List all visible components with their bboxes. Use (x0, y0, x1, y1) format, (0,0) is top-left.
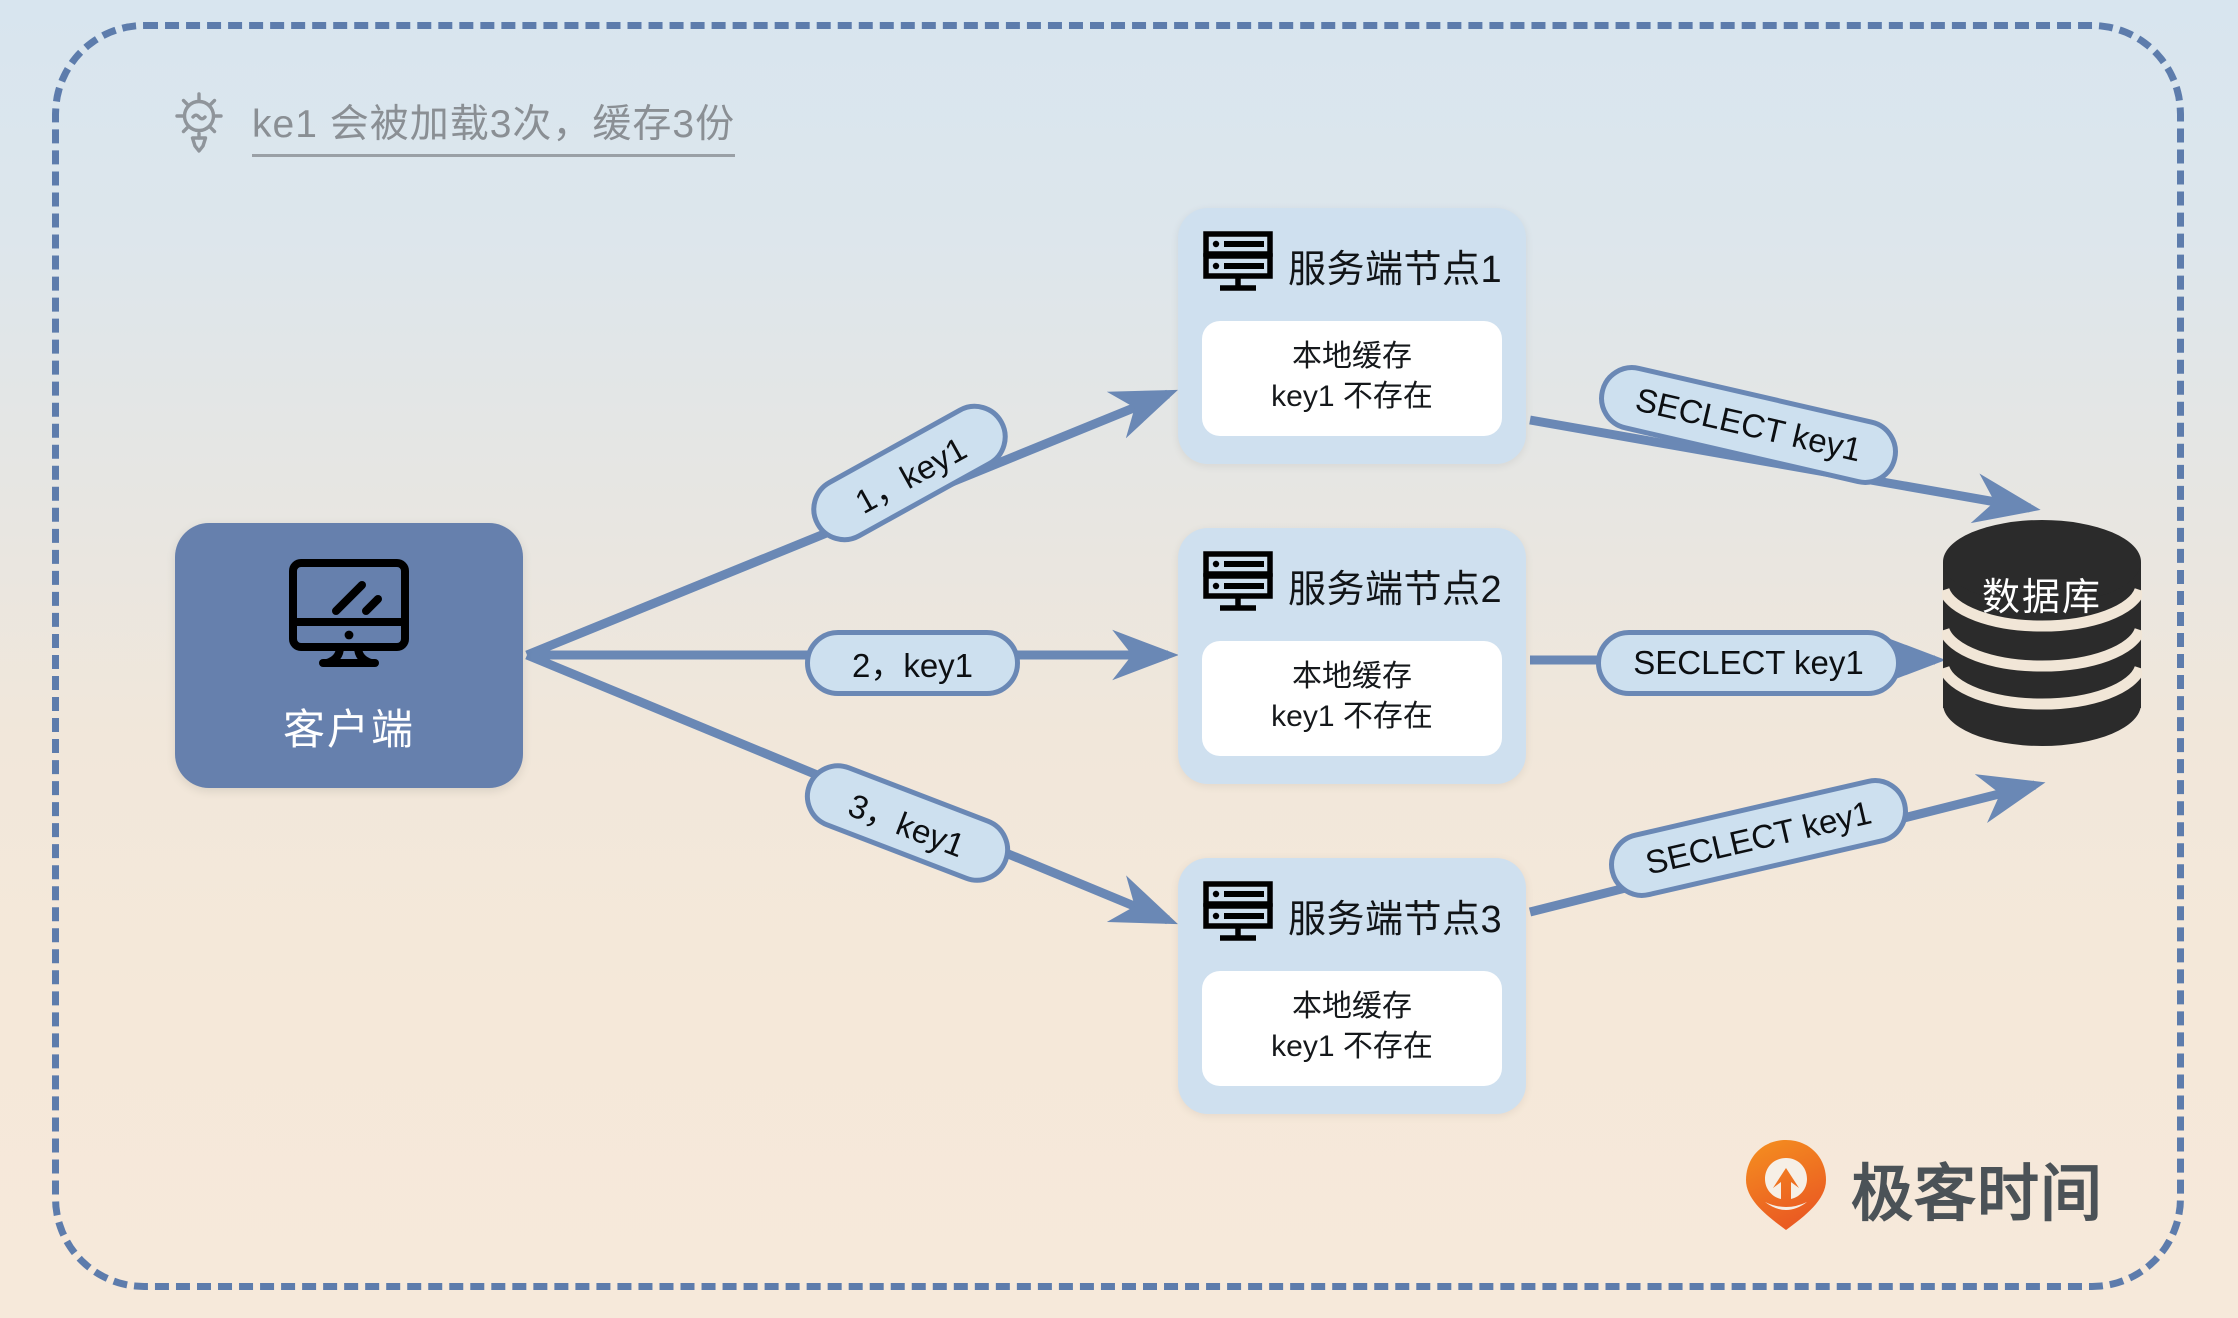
server-node-3[interactable]: 服务端节点3 本地缓存 key1 不存在 (1178, 858, 1526, 1114)
local-cache-box: 本地缓存 key1 不存在 (1202, 971, 1502, 1086)
edge-label-query-2: SECLECT key1 (1596, 630, 1901, 696)
hint-text: ke1 会被加载3次，缓存3份 (252, 93, 735, 157)
edge-label-request-3: 3，key1 (795, 754, 1019, 893)
server-title: 服务端节点3 (1288, 888, 1502, 943)
database-cylinder-icon (1942, 518, 2142, 788)
geektime-pin-icon (1743, 1138, 1829, 1237)
edge-label-request-2: 2，key1 (805, 630, 1020, 696)
cache-title: 本地缓存 (1210, 987, 1494, 1027)
edge-label-query-1: SECLECT key1 (1592, 359, 1904, 492)
geektime-logo: 极客时间 (1743, 1138, 2103, 1237)
server-title: 服务端节点2 (1288, 558, 1502, 613)
server-icon (1202, 230, 1274, 301)
edge-label-query-3: SECLECT key1 (1602, 772, 1914, 905)
cache-status: key1 不存在 (1210, 377, 1494, 417)
geektime-logo-text: 极客时间 (1851, 1143, 2103, 1233)
server-node-1[interactable]: 服务端节点1 本地缓存 key1 不存在 (1178, 208, 1526, 464)
cache-status: key1 不存在 (1210, 697, 1494, 737)
server-header: 服务端节点1 (1202, 230, 1502, 301)
local-cache-box: 本地缓存 key1 不存在 (1202, 641, 1502, 756)
client-node[interactable]: 客户端 (175, 523, 523, 788)
cache-title: 本地缓存 (1210, 657, 1494, 697)
server-header: 服务端节点3 (1202, 880, 1502, 951)
hint-row: ke1 会被加载3次，缓存3份 (168, 88, 735, 161)
database-node[interactable]: 数据库 (1942, 518, 2142, 788)
cache-status: key1 不存在 (1210, 1027, 1494, 1067)
diagram-canvas: ke1 会被加载3次，缓存3份 客户端 (0, 0, 2238, 1318)
lightbulb-icon (168, 88, 230, 161)
server-title: 服务端节点1 (1288, 238, 1502, 293)
monitor-icon (283, 555, 415, 678)
edge-label-request-1: 1，key1 (799, 392, 1019, 554)
cache-title: 本地缓存 (1210, 337, 1494, 377)
server-node-2[interactable]: 服务端节点2 本地缓存 key1 不存在 (1178, 528, 1526, 784)
client-label: 客户端 (283, 696, 415, 757)
server-icon (1202, 550, 1274, 621)
server-icon (1202, 880, 1274, 951)
server-header: 服务端节点2 (1202, 550, 1502, 621)
local-cache-box: 本地缓存 key1 不存在 (1202, 321, 1502, 436)
